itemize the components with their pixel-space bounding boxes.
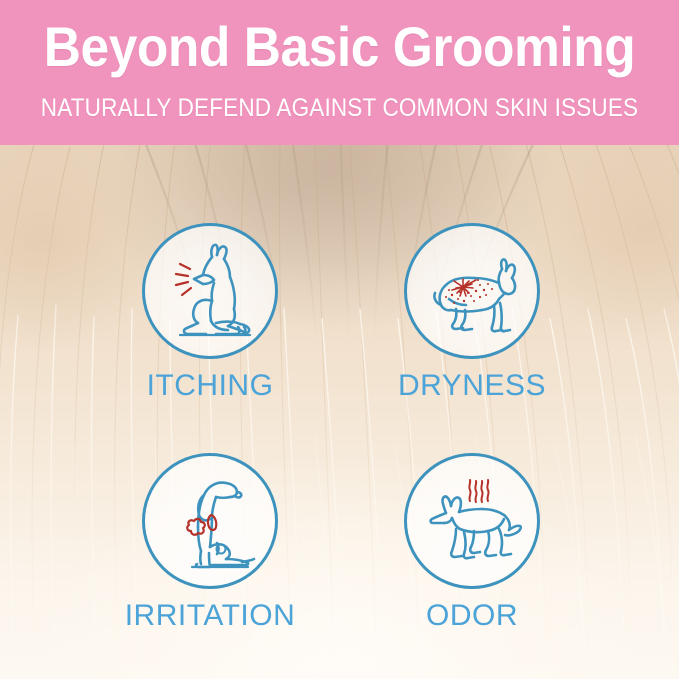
feature-label-itching: ITCHING xyxy=(90,369,330,403)
dryness-icon-circle[interactable] xyxy=(404,223,540,359)
feature-irritation[interactable]: IRRITATION xyxy=(90,453,330,633)
promo-poster: Beyond Basic Grooming NATURALLY DEFEND A… xyxy=(0,0,679,679)
feature-grid: ITCHING xyxy=(0,145,679,679)
dog-odor-waves-icon xyxy=(416,465,528,577)
dog-scratching-icon xyxy=(154,235,266,347)
feature-odor[interactable]: ODOR xyxy=(352,453,592,633)
feature-dryness[interactable]: DRYNESS xyxy=(352,223,592,403)
irritation-icon-circle[interactable] xyxy=(142,453,278,589)
page-title: Beyond Basic Grooming xyxy=(27,16,652,78)
dog-flaky-skin-icon xyxy=(416,235,528,347)
feature-label-odor: ODOR xyxy=(352,599,592,633)
odor-waves xyxy=(469,480,488,502)
flake-burst xyxy=(452,279,476,296)
odor-icon-circle[interactable] xyxy=(404,453,540,589)
feature-label-dryness: DRYNESS xyxy=(352,369,592,403)
itching-icon-circle[interactable] xyxy=(142,223,278,359)
page-subtitle: NATURALLY DEFEND AGAINST COMMON SKIN ISS… xyxy=(34,93,645,123)
dog-irritated-patch-icon xyxy=(154,465,266,577)
feature-itching[interactable]: ITCHING xyxy=(90,223,330,403)
header-band: Beyond Basic Grooming NATURALLY DEFEND A… xyxy=(0,0,679,145)
feature-label-irritation: IRRITATION xyxy=(90,599,330,633)
scratch-marks xyxy=(176,264,191,295)
